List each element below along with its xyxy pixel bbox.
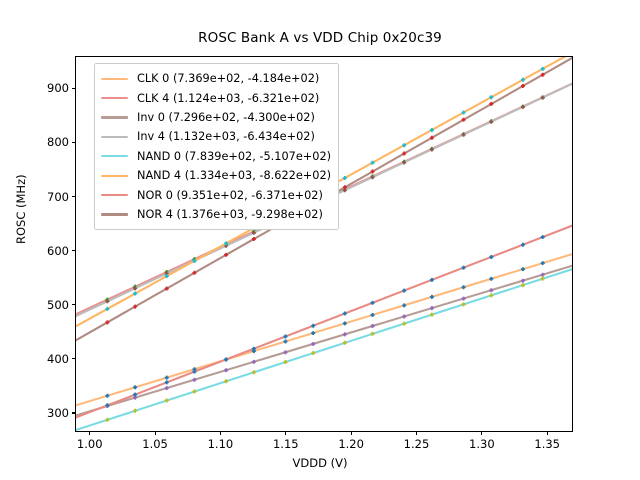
chart-title: ROSC Bank A vs VDD Chip 0x20c39: [0, 30, 640, 46]
x-axis-label: VDDD (V): [0, 456, 640, 470]
x-tick-label: 1.30: [469, 437, 495, 451]
legend-item: NOR 0 (9.351e+02, -6.371e+02): [101, 185, 331, 204]
legend-color-swatch: [101, 175, 128, 177]
x-tick-label: 1.10: [208, 437, 234, 451]
legend-item: NAND 0 (7.839e+02, -5.107e+02): [101, 147, 331, 166]
y-tick-mark: [72, 304, 76, 305]
y-tick-mark: [72, 358, 76, 359]
legend-item: CLK 4 (1.124e+03, -6.321e+02): [101, 88, 331, 107]
y-tick-mark: [72, 88, 76, 89]
fit-line: [76, 226, 572, 418]
y-tick-mark: [72, 142, 76, 143]
y-tick-label: 600: [47, 244, 69, 258]
legend-item-label: NAND 4 (1.334e+03, -8.622e+02): [137, 169, 331, 182]
series-clk-0: [76, 254, 572, 405]
legend-item-label: NOR 4 (1.376e+03, -9.298e+02): [137, 208, 323, 221]
y-tick-mark: [72, 196, 76, 197]
x-tick-mark: [547, 431, 548, 435]
fit-line: [76, 269, 572, 430]
legend-item: CLK 0 (7.369e+02, -4.184e+02): [101, 69, 331, 88]
legend-item-label: CLK 0 (7.369e+02, -4.184e+02): [137, 72, 319, 85]
x-tick-mark: [416, 431, 417, 435]
legend-item-label: Inv 0 (7.296e+02, -4.300e+02): [137, 111, 315, 124]
x-tick-label: 1.35: [534, 437, 560, 451]
y-tick-label: 300: [47, 406, 69, 420]
x-tick-mark: [89, 431, 90, 435]
fit-line: [76, 254, 572, 405]
legend-color-swatch: [101, 136, 128, 138]
figure: ROSC Bank A vs VDD Chip 0x20c39 ROSC (MH…: [0, 0, 640, 480]
x-tick-label: 1.05: [142, 437, 168, 451]
legend-color-swatch: [101, 78, 128, 80]
legend-item-label: NOR 0 (9.351e+02, -6.371e+02): [137, 189, 323, 202]
legend-color-swatch: [101, 116, 128, 118]
y-tick-mark: [72, 250, 76, 251]
x-tick-label: 1.15: [273, 437, 299, 451]
legend-item-label: CLK 4 (1.124e+03, -6.321e+02): [137, 92, 319, 105]
y-tick-label: 900: [47, 81, 69, 95]
series-nand-0: [76, 269, 572, 430]
legend-color-swatch: [101, 213, 128, 215]
x-tick-mark: [220, 431, 221, 435]
y-tick-label: 700: [47, 190, 69, 204]
legend-color-swatch: [101, 194, 128, 196]
x-tick-mark: [155, 431, 156, 435]
fit-line: [76, 266, 572, 416]
x-tick-mark: [351, 431, 352, 435]
legend-item: Inv 4 (1.132e+03, -6.434e+02): [101, 127, 331, 146]
legend-color-swatch: [101, 155, 128, 157]
x-tick-label: 1.25: [404, 437, 430, 451]
plot-area: 300400500600700800900 1.001.051.101.151.…: [75, 56, 573, 432]
x-tick-label: 1.00: [77, 437, 103, 451]
y-tick-mark: [72, 412, 76, 413]
y-axis-label: ROSC (MHz): [14, 174, 28, 244]
legend-color-swatch: [101, 97, 128, 99]
y-tick-label: 400: [47, 352, 69, 366]
x-tick-mark: [481, 431, 482, 435]
legend: CLK 0 (7.369e+02, -4.184e+02)CLK 4 (1.12…: [94, 63, 339, 230]
series-nor-0: [76, 226, 572, 418]
x-tick-label: 1.20: [338, 437, 364, 451]
y-tick-label: 800: [47, 135, 69, 149]
x-tick-mark: [285, 431, 286, 435]
legend-item: NAND 4 (1.334e+03, -8.622e+02): [101, 166, 331, 185]
series-inv-0: [76, 266, 572, 416]
legend-item-label: Inv 4 (1.132e+03, -6.434e+02): [137, 130, 315, 143]
legend-item: NOR 4 (1.376e+03, -9.298e+02): [101, 205, 331, 224]
legend-item-label: NAND 0 (7.839e+02, -5.107e+02): [137, 150, 331, 163]
legend-item: Inv 0 (7.296e+02, -4.300e+02): [101, 108, 331, 127]
y-tick-label: 500: [47, 298, 69, 312]
